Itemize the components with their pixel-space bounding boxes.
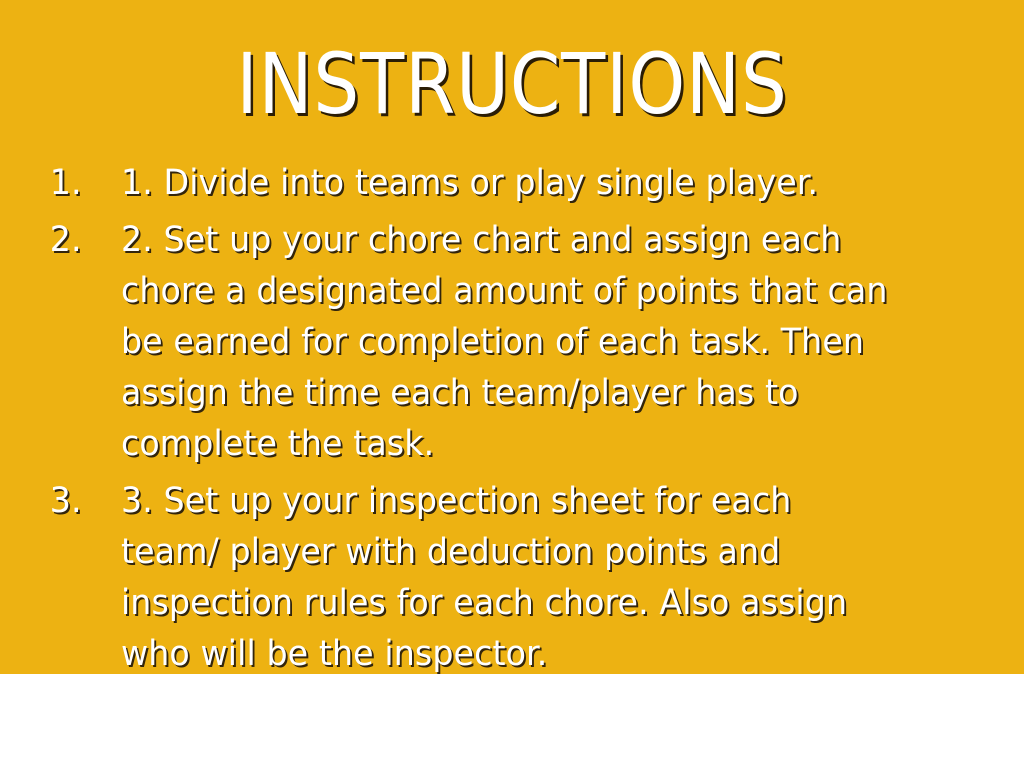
instructions-list: 1. 1. Divide into teams or play single p… xyxy=(44,158,944,674)
slide-canvas: INSTRUCTIONS 1. 1. Divide into teams or … xyxy=(0,0,1024,674)
list-item: 3. 3. Set up your inspection sheet for e… xyxy=(44,476,899,674)
list-item-text: 1. Divide into teams or play single play… xyxy=(121,158,899,209)
list-item-marker: 3. xyxy=(50,476,97,527)
list-item: 1. 1. Divide into teams or play single p… xyxy=(44,158,899,209)
page-title: INSTRUCTIONS xyxy=(72,38,953,130)
list-item-text: 3. Set up your inspection sheet for each… xyxy=(121,476,899,674)
list-item-text: 2. Set up your chore chart and assign ea… xyxy=(121,215,899,470)
list-item-marker: 2. xyxy=(50,215,97,266)
list-item: 2. 2. Set up your chore chart and assign… xyxy=(44,215,899,470)
list-item-marker: 1. xyxy=(50,158,97,209)
bottom-white-band xyxy=(0,674,1024,768)
